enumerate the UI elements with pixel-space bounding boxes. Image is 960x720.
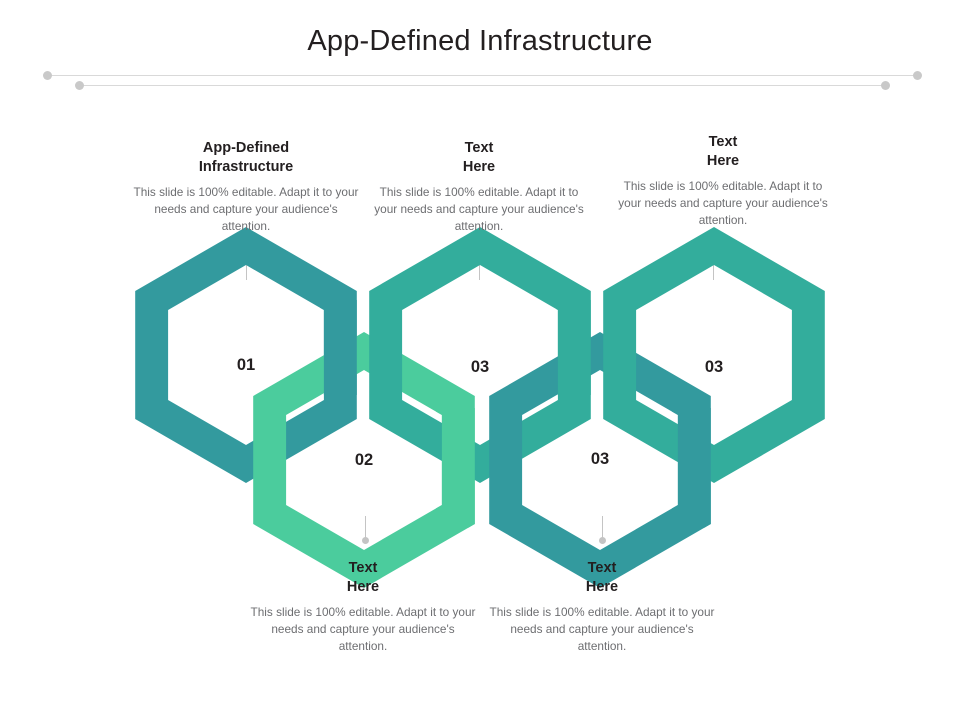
callout-3[interactable]: Text Here This slide is 100% editable. A…: [368, 139, 590, 235]
callout-1[interactable]: App-Defined Infrastructure This slide is…: [130, 139, 362, 235]
hexagon-03-upper-right-number: 03: [674, 358, 754, 377]
callout-4-body: This slide is 100% editable. Adapt it to…: [489, 604, 715, 654]
callout-5[interactable]: Text Here This slide is 100% editable. A…: [612, 133, 834, 229]
divider-line-bottom: [80, 85, 885, 86]
leader-line-1: [246, 256, 247, 280]
leader-dot-1: [243, 249, 250, 256]
hexagon-03-upper-mid[interactable]: [369, 227, 591, 483]
leader-dot-3: [476, 249, 483, 256]
callout-5-body: This slide is 100% editable. Adapt it to…: [612, 178, 834, 228]
divider-dot-bottom-left: [75, 81, 84, 90]
leader-line-5: [713, 256, 714, 280]
leader-dot-2: [362, 537, 369, 544]
hexagon-03-lower[interactable]: [489, 332, 711, 588]
callout-5-heading: Text Here: [612, 133, 834, 171]
hexagon-03-upper-right[interactable]: [603, 227, 825, 483]
hexagon-01-number: 01: [206, 356, 286, 375]
callout-2[interactable]: Text Here This slide is 100% editable. A…: [250, 559, 476, 655]
hexagon-02[interactable]: [253, 332, 475, 588]
hexagon-03-upper-mid-number: 03: [440, 358, 520, 377]
page-title: App-Defined Infrastructure: [0, 25, 960, 58]
callout-2-body: This slide is 100% editable. Adapt it to…: [250, 604, 476, 654]
divider-dot-top-left: [43, 71, 52, 80]
callout-2-heading: Text Here: [250, 559, 476, 597]
leader-dot-5: [710, 249, 717, 256]
leader-dot-4: [599, 537, 606, 544]
divider-dot-top-right: [913, 71, 922, 80]
callout-4[interactable]: Text Here This slide is 100% editable. A…: [489, 559, 715, 655]
leader-line-3: [479, 256, 480, 280]
callout-1-heading: App-Defined Infrastructure: [130, 139, 362, 177]
divider-dot-bottom-right: [881, 81, 890, 90]
hexagon-03-lower-number: 03: [560, 450, 640, 469]
hexagon-chain: [0, 0, 960, 720]
callout-3-body: This slide is 100% editable. Adapt it to…: [368, 184, 590, 234]
divider-line-top: [48, 75, 917, 76]
callout-1-body: This slide is 100% editable. Adapt it to…: [130, 184, 362, 234]
hexagon-02-number: 02: [324, 451, 404, 470]
callout-4-heading: Text Here: [489, 559, 715, 597]
callout-3-heading: Text Here: [368, 139, 590, 177]
